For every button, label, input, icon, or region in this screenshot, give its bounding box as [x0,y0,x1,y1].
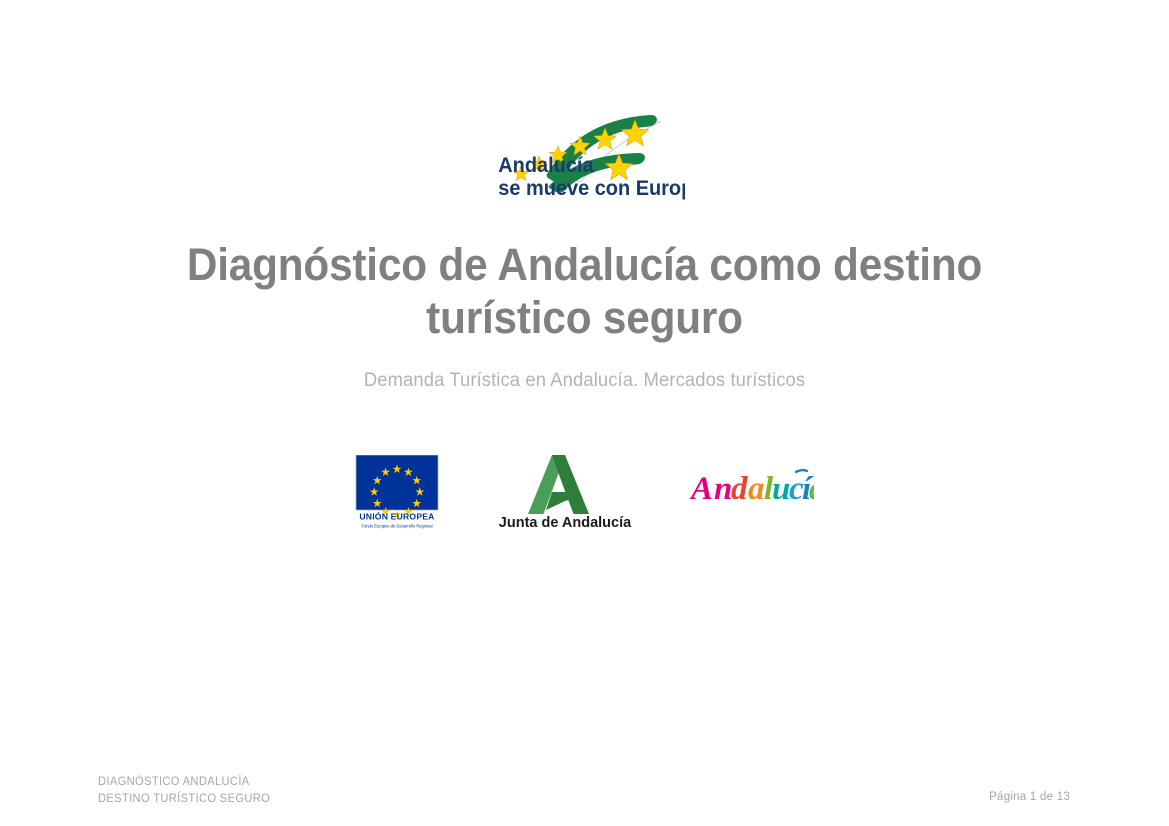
eu-logo-secondary-label: Fondo Europeo de Desarrollo Regional [361,524,432,529]
union-europea-logo: UNIÓN EUROPEA Fondo Europeo de Desarroll… [322,448,472,533]
slide-canvas: Andalucía se mueve con Europa Diagnóstic… [0,0,1169,826]
title-block: Diagnóstico de Andalucía como destino tu… [0,238,1169,392]
institutional-logo-row: UNIÓN EUROPEA Fondo Europeo de Desarroll… [0,448,1169,540]
brand-letter-n: n [714,471,732,507]
brand-letter-a3: a [809,471,814,507]
logo-line-1: Andalucía [498,154,594,178]
page-number: Página 1 de 13 [989,791,1070,803]
junta-de-andalucia-logo: Junta de Andalucía [472,448,657,530]
brand-letter-A: A [690,471,713,507]
brand-letter-u: u [772,471,790,507]
junta-logo-label: Junta de Andalucía [498,515,631,530]
andalucia-brand-logo: A n d a l u c í a [657,448,847,511]
page-subtitle: Demanda Turística en Andalucía. Mercados… [18,344,1152,392]
page-title: Diagnóstico de Andalucía como destino tu… [35,238,1134,344]
brand-letter-a2: a [748,471,765,507]
andalucia-se-mueve-con-europa-logo: Andalucía se mueve con Europa [0,98,1169,210]
footer-line-1: DIAGNÓSTICO ANDALUCÍA [98,774,270,791]
footer-document-label: DIAGNÓSTICO ANDALUCÍA DESTINO TURÍSTICO … [98,774,270,807]
logo-line-2: se mueve con Europa [498,177,685,201]
eu-flag-field [356,455,438,510]
brand-letter-d: d [731,471,748,507]
footer-line-2: DESTINO TURÍSTICO SEGURO [98,791,270,808]
junta-mark-right [552,455,589,514]
eu-logo-primary-label: UNIÓN EUROPEA [359,511,434,522]
